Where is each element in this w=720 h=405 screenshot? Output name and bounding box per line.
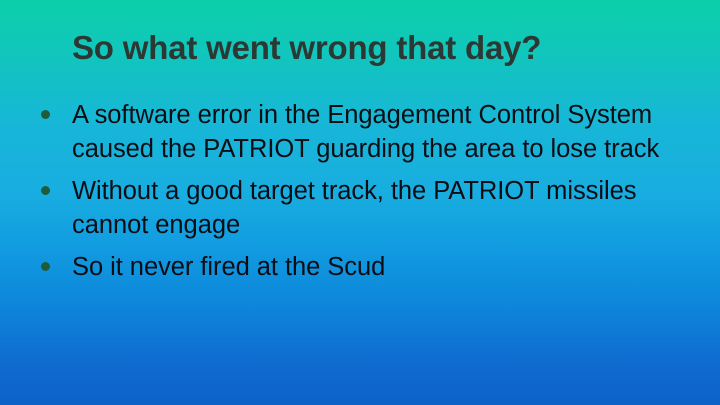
- bullet-list-item: A software error in the Engagement Contr…: [38, 98, 698, 166]
- bullet-list-item: So it never fired at the Scud: [38, 250, 698, 284]
- bullet-item-text: A software error in the Engagement Contr…: [72, 98, 698, 166]
- disc-bullet-icon: [41, 262, 50, 271]
- slide-bullet-list: A software error in the Engagement Contr…: [38, 98, 698, 284]
- presentation-slide: So what went wrong that day? A software …: [0, 0, 720, 405]
- slide-title: So what went wrong that day?: [72, 27, 672, 69]
- bullet-item-text: So it never fired at the Scud: [72, 250, 698, 284]
- bullet-list-item: Without a good target track, the PATRIOT…: [38, 174, 698, 242]
- disc-bullet-icon: [41, 186, 50, 195]
- bullet-item-text: Without a good target track, the PATRIOT…: [72, 174, 698, 242]
- disc-bullet-icon: [41, 110, 50, 119]
